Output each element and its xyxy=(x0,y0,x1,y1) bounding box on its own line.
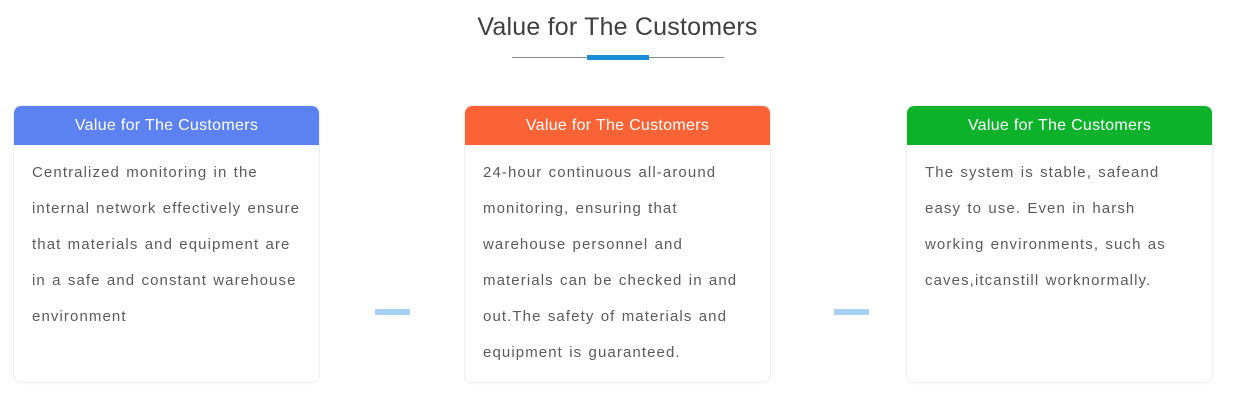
page-header: Value for The Customers xyxy=(0,0,1235,64)
connector-2-3-icon xyxy=(834,309,869,315)
value-card-2[interactable]: Value for The Customers 24-hour continuo… xyxy=(465,106,770,382)
title-divider-accent xyxy=(587,55,649,60)
value-card-1[interactable]: Value for The Customers Centralized moni… xyxy=(14,106,319,382)
value-card-2-header: Value for The Customers xyxy=(465,106,770,145)
value-card-3-header: Value for The Customers xyxy=(907,106,1212,145)
page-title: Value for The Customers xyxy=(0,10,1235,44)
value-cards-row: Value for The Customers Centralized moni… xyxy=(0,106,1235,386)
value-card-1-body: Centralized monitoring in the internal n… xyxy=(14,145,319,335)
title-divider xyxy=(512,52,724,64)
value-card-3-body: The system is stable, safeand easy to us… xyxy=(907,145,1212,299)
value-card-3[interactable]: Value for The Customers The system is st… xyxy=(907,106,1212,382)
value-card-2-body: 24-hour continuous all-around monitoring… xyxy=(465,145,770,371)
value-card-1-header: Value for The Customers xyxy=(14,106,319,145)
connector-1-2-icon xyxy=(375,309,410,315)
